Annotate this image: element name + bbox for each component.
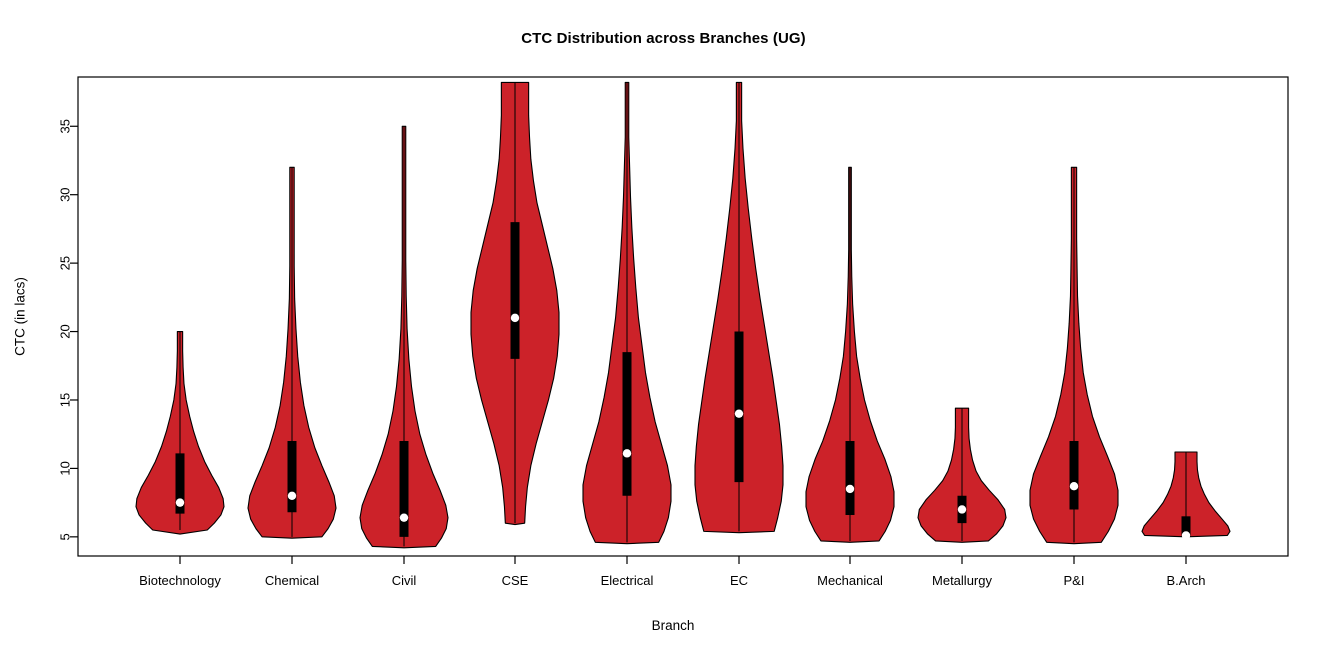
x-axis-tick-label: B.Arch bbox=[1166, 573, 1205, 588]
chart-page: CTC Distribution across Branches (UG) 51… bbox=[0, 0, 1327, 653]
y-axis-tick-label: 35 bbox=[58, 119, 73, 133]
violin-biotechnology bbox=[136, 332, 224, 535]
median-point bbox=[1070, 482, 1078, 490]
violin-b-arch bbox=[1142, 452, 1230, 540]
y-axis-tick-label: 25 bbox=[58, 256, 73, 270]
y-axis-title: CTC (in lacs) bbox=[13, 277, 28, 356]
y-axis-tick-label: 10 bbox=[58, 461, 73, 475]
median-point bbox=[846, 485, 854, 493]
y-axis-tick-label: 20 bbox=[58, 324, 73, 338]
violin-metallurgy bbox=[918, 408, 1006, 542]
x-axis-tick-label: CSE bbox=[502, 573, 529, 588]
x-axis-tick-label: Electrical bbox=[601, 573, 654, 588]
x-axis-tick-label: Biotechnology bbox=[139, 573, 221, 588]
y-axis-tick-label: 15 bbox=[58, 393, 73, 407]
median-point bbox=[400, 513, 408, 521]
violin-ec bbox=[695, 82, 783, 532]
y-axis-tick-label: 30 bbox=[58, 187, 73, 201]
y-axis: 5101520253035CTC (in lacs) bbox=[13, 119, 79, 540]
x-axis-tick-label: Chemical bbox=[265, 573, 319, 588]
median-point bbox=[511, 314, 519, 322]
x-axis-tick-label: P&I bbox=[1064, 573, 1085, 588]
x-axis-tick-label: Mechanical bbox=[817, 573, 883, 588]
x-axis: BiotechnologyChemicalCivilCSEElectricalE… bbox=[139, 556, 1205, 633]
violin-cse bbox=[471, 82, 559, 524]
x-axis-tick-label: Civil bbox=[392, 573, 417, 588]
median-point bbox=[735, 409, 743, 417]
violin-mechanical bbox=[806, 167, 894, 542]
violin-civil bbox=[360, 126, 448, 548]
x-axis-tick-label: EC bbox=[730, 573, 748, 588]
violin-p-i bbox=[1030, 167, 1118, 543]
median-point bbox=[176, 498, 184, 506]
median-point bbox=[623, 449, 631, 457]
median-point bbox=[288, 492, 296, 500]
y-axis-tick-label: 5 bbox=[58, 533, 73, 540]
violin-electrical bbox=[583, 82, 671, 543]
violin-chemical bbox=[248, 167, 336, 538]
x-axis-title: Branch bbox=[652, 618, 695, 633]
median-point bbox=[958, 505, 966, 513]
x-axis-tick-label: Metallurgy bbox=[932, 573, 992, 588]
violin-plot-figure: 5101520253035CTC (in lacs)BiotechnologyC… bbox=[0, 0, 1327, 653]
median-point bbox=[1182, 531, 1190, 539]
